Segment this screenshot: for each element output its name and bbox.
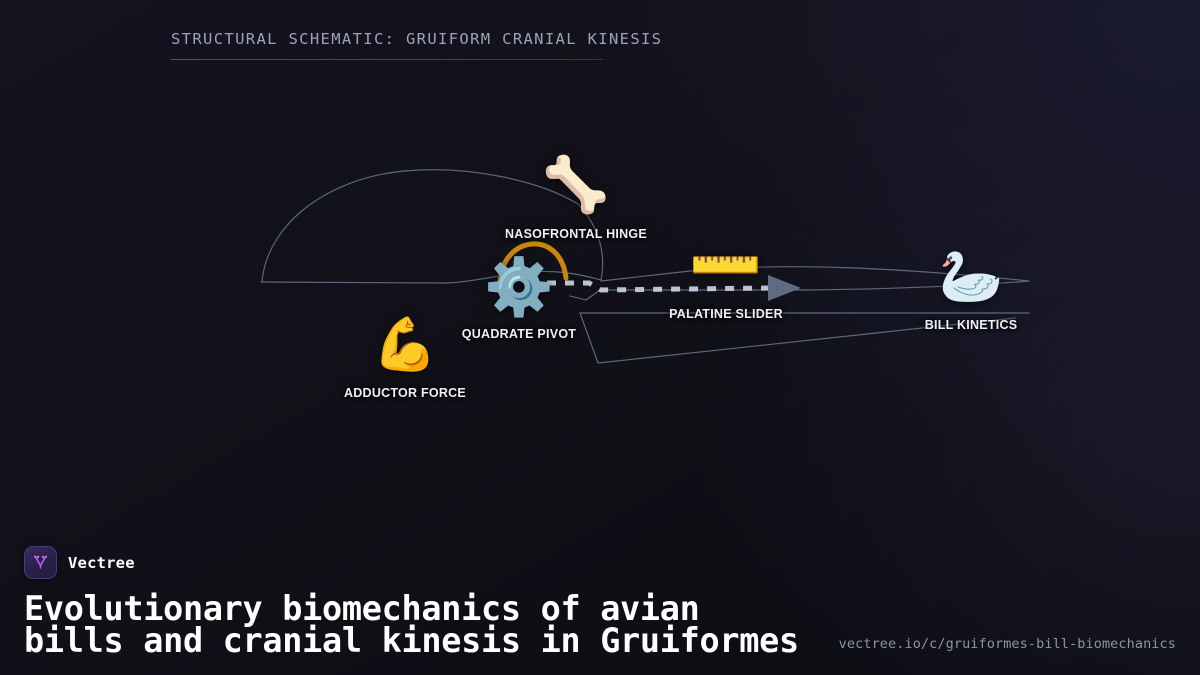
brand-name: Vectree xyxy=(68,554,135,572)
cranium-base-line xyxy=(261,282,447,283)
quadrate-downstroke xyxy=(570,290,600,300)
gear-icon: ⚙️ xyxy=(484,260,554,316)
schematic-caption: STRUCTURAL SCHEMATIC: GRUIFORM CRANIAL K… xyxy=(171,28,662,60)
caption-divider xyxy=(171,59,603,60)
poster-canvas: STRUCTURAL SCHEMATIC: GRUIFORM CRANIAL K… xyxy=(0,0,1200,675)
node-label-bill-kinetics: BILL KINETICS xyxy=(925,318,1018,332)
node-label-adductor-force: ADDUCTOR FORCE xyxy=(344,386,466,400)
protraction-vector-arrow xyxy=(768,275,801,301)
node-quadrate-pivot[interactable]: ⚙️ QUADRATE PIVOT xyxy=(484,260,554,316)
page-title: Evolutionary biomechanics of avian bills… xyxy=(24,593,814,657)
footer: Vectree Evolutionary biomechanics of avi… xyxy=(0,546,1200,675)
node-bill-kinetics[interactable]: 🦢 BILL KINETICS xyxy=(939,251,1004,303)
vectree-logo-icon xyxy=(24,546,57,579)
node-label-palatine-slider: PALATINE SLIDER xyxy=(669,307,783,321)
schematic-caption-text: STRUCTURAL SCHEMATIC: GRUIFORM CRANIAL K… xyxy=(171,28,662,50)
brand-row[interactable]: Vectree xyxy=(24,546,1176,579)
flexed-biceps-icon: 💪 xyxy=(373,319,438,371)
source-url: vectree.io/c/gruiformes-bill-biomechanic… xyxy=(839,636,1176,652)
node-label-nasofrontal-hinge: NASOFRONTAL HINGE xyxy=(505,227,647,241)
straight-ruler-icon: 📏 xyxy=(685,225,768,308)
node-label-quadrate-pivot: QUADRATE PIVOT xyxy=(462,327,576,341)
bone-icon: 🦴 xyxy=(542,158,609,212)
swan-icon: 🦢 xyxy=(939,251,1004,303)
node-palatine-slider[interactable]: 📏 PALATINE SLIDER xyxy=(694,240,759,292)
node-nasofrontal-hinge[interactable]: 🦴 NASOFRONTAL HINGE xyxy=(542,158,609,212)
node-adductor-force[interactable]: 💪 ADDUCTOR FORCE xyxy=(373,319,438,371)
